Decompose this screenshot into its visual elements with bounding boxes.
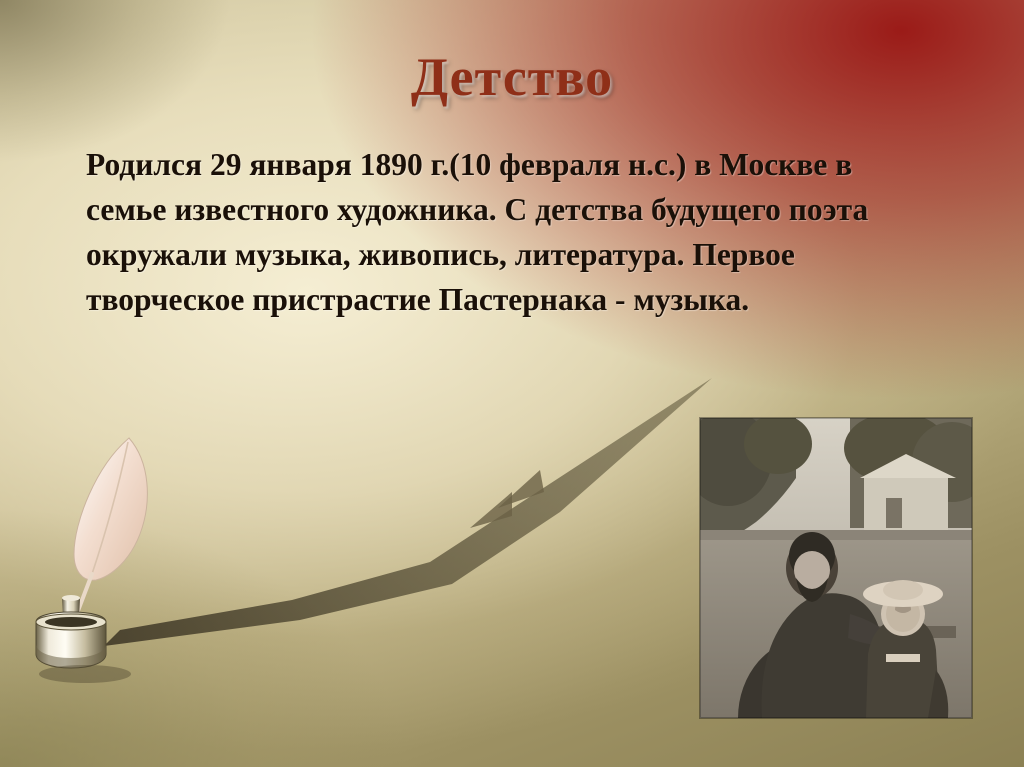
historic-photograph — [700, 418, 972, 718]
feather — [74, 438, 147, 616]
photo-figure-child — [863, 580, 948, 718]
quill-shadow — [104, 378, 712, 646]
slide-body-text: Родился 29 января 1890 г.(10 февраля н.с… — [86, 142, 916, 322]
quill-pen-illustration — [0, 330, 760, 690]
page-title: Детство — [0, 46, 1024, 108]
presentation-slide: Детство Родился 29 января 1890 г.(10 фев… — [0, 0, 1024, 767]
